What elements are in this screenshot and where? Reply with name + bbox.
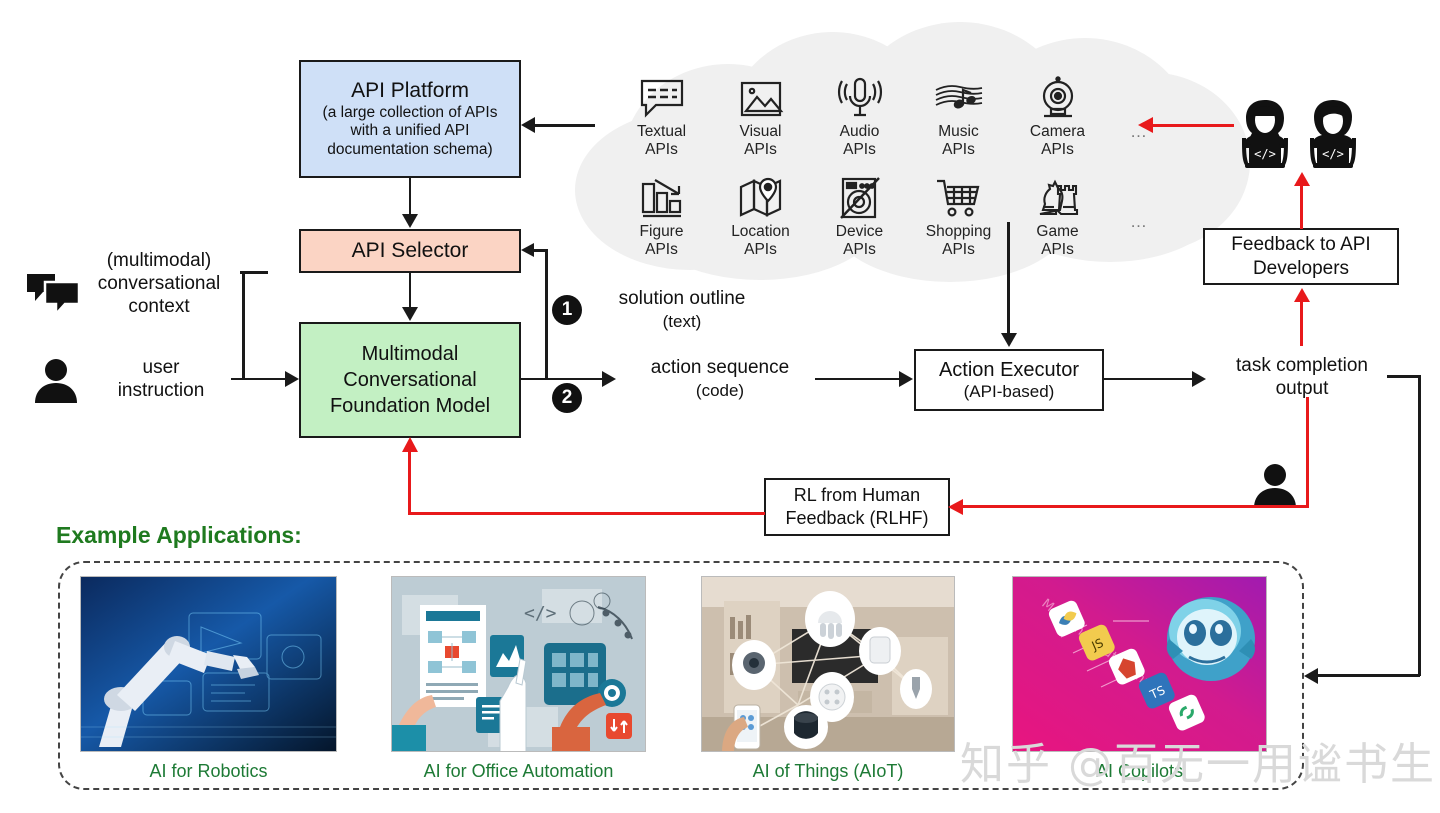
arrowhead-action-seq-to-executor — [899, 371, 913, 387]
red-arrowhead-devs-to-cloud — [1138, 117, 1153, 133]
developer-female-icon: </> — [1234, 98, 1296, 175]
chat-bubbles-icon — [25, 272, 81, 317]
red-arrowhead-rlhf-to-model — [402, 437, 418, 452]
foundation-model-title: MultimodalConversationalFoundation Model — [330, 341, 490, 419]
shopping-cart-icon — [909, 166, 1008, 220]
connector-selector-to-model — [409, 273, 412, 309]
robotics-thumbnail — [80, 576, 337, 752]
action-sequence-label: action sequence — [630, 357, 810, 380]
example-applications-heading: Example Applications: — [56, 522, 302, 549]
connector-model-to-action-seq — [545, 378, 607, 381]
user-person-icon — [33, 357, 79, 408]
connector-model-out-horizontal — [521, 378, 547, 381]
bar-chart-icon — [612, 166, 711, 220]
red-connector-rlhf-horizontal — [408, 512, 765, 515]
application-caption: AI of Things (AIoT) — [701, 761, 955, 782]
api-category-item[interactable]: ShoppingAPIs — [909, 166, 1008, 259]
api-category-item[interactable]: MusicAPIs — [909, 66, 1008, 159]
arrowhead-output-to-apps — [1304, 668, 1318, 684]
rlhf-title: RL from HumanFeedback (RLHF) — [785, 484, 928, 530]
api-category-label: VisualAPIs — [711, 123, 810, 159]
application-caption: AI for Office Automation — [391, 761, 646, 782]
red-connector-devs-to-cloud — [1152, 124, 1234, 127]
aiot-thumbnail — [701, 576, 955, 752]
feedback-to-developers-box[interactable]: Feedback to APIDevelopers — [1203, 228, 1399, 285]
arrowhead-inputs-to-model — [285, 371, 299, 387]
solution-outline-sub-label: (text) — [592, 312, 772, 332]
red-arrowhead-output-to-feedback — [1294, 288, 1310, 302]
red-connector-feedback-to-devs — [1300, 183, 1303, 229]
connector-output-vertical — [1418, 375, 1421, 676]
api-category-label: LocationAPIs — [711, 223, 810, 259]
connector-context-horizontal — [240, 271, 268, 274]
api-category-label: ShoppingAPIs — [909, 223, 1008, 259]
api-category-item[interactable]: GameAPIs — [1008, 166, 1107, 259]
arrowhead-platform-to-selector — [402, 214, 418, 228]
copilots-thumbnail: More than autocomplete JS — [1012, 576, 1267, 752]
svg-text:</>: </> — [1322, 147, 1344, 161]
connector-cloud-to-platform — [533, 124, 595, 127]
red-connector-human-to-rlhf — [962, 505, 1309, 508]
feedback-title: Feedback to APIDevelopers — [1231, 233, 1370, 281]
connector-loop-vertical — [545, 249, 548, 380]
user-instruction-label: userinstruction — [86, 357, 236, 403]
api-platform-subtitle: (a large collection of APIswith a unifie… — [317, 104, 504, 160]
api-category-item[interactable]: TextualAPIs — [612, 66, 711, 159]
red-connector-output-to-feedback — [1300, 300, 1303, 346]
arrowhead-loop-to-selector — [521, 243, 534, 257]
image-picture-icon — [711, 66, 810, 120]
api-category-item[interactable]: LocationAPIs — [711, 166, 810, 259]
action-executor-box[interactable]: Action Executor (API-based) — [914, 349, 1104, 411]
connector-loop-to-selector — [533, 249, 547, 252]
diagram-canvas: TextualAPIsVisualAPIsAudioAPIsMusicAPIsC… — [0, 0, 1440, 813]
rlhf-box[interactable]: RL from HumanFeedback (RLHF) — [764, 478, 950, 536]
red-connector-rlhf-vertical — [408, 452, 411, 514]
api-selector-title: API Selector — [352, 239, 469, 263]
api-category-label: AudioAPIs — [810, 123, 909, 159]
solution-outline-label: solution outline — [592, 288, 772, 311]
action-executor-subtitle: (API-based) — [964, 382, 1055, 401]
marker-one: 1 — [552, 295, 582, 325]
api-selector-box[interactable]: API Selector — [299, 229, 521, 273]
api-category-item[interactable]: DeviceAPIs — [810, 166, 909, 259]
task-completion-label: task completionoutput — [1212, 355, 1392, 401]
cloud-ellipsis-bottom: … — [1130, 212, 1149, 232]
red-arrowhead-feedback-to-devs — [1294, 172, 1310, 186]
api-category-label: FigureAPIs — [612, 223, 711, 259]
application-card-office[interactable]: </> AI for Office Automation — [391, 576, 646, 782]
conversational-context-label: (multimodal)conversationalcontext — [78, 250, 240, 318]
red-arrowhead-human-to-rlhf — [948, 499, 963, 515]
application-caption: AI for Robotics — [80, 761, 337, 782]
developer-male-icon: </> — [1302, 98, 1364, 175]
action-executor-title: Action Executor — [939, 359, 1079, 382]
api-category-label: CameraAPIs — [1008, 123, 1107, 159]
api-category-item[interactable]: AudioAPIs — [810, 66, 909, 159]
microphone-icon — [810, 66, 909, 120]
svg-text:</>: </> — [1254, 147, 1276, 161]
arrowhead-executor-to-output — [1192, 371, 1206, 387]
api-platform-box[interactable]: API Platform (a large collection of APIs… — [299, 60, 521, 178]
api-category-item[interactable]: FigureAPIs — [612, 166, 711, 259]
api-category-item[interactable]: VisualAPIs — [711, 66, 810, 159]
arrowhead-cloud-to-executor — [1001, 333, 1017, 347]
connector-output-top — [1387, 375, 1421, 378]
music-notes-icon — [909, 66, 1008, 120]
washing-machine-icon — [810, 166, 909, 220]
application-card-aiot[interactable]: AI of Things (AIoT) — [701, 576, 955, 782]
webcam-icon — [1008, 66, 1107, 120]
chess-pieces-icon — [1008, 166, 1107, 220]
api-platform-title: API Platform — [351, 79, 469, 103]
api-category-label: TextualAPIs — [612, 123, 711, 159]
red-connector-human-vertical — [1306, 397, 1309, 507]
arrowhead-cloud-to-platform — [521, 117, 535, 133]
api-category-label: MusicAPIs — [909, 123, 1008, 159]
office-automation-thumbnail: </> — [391, 576, 646, 752]
arrowhead-selector-to-model — [402, 307, 418, 321]
connector-context-vertical — [242, 272, 245, 379]
foundation-model-box[interactable]: MultimodalConversationalFoundation Model — [299, 322, 521, 438]
map-pin-icon — [711, 166, 810, 220]
connector-platform-to-selector — [409, 178, 412, 216]
application-card-robotics[interactable]: AI for Robotics — [80, 576, 337, 782]
action-sequence-sub-label: (code) — [630, 381, 810, 401]
connector-user-to-model — [231, 378, 289, 381]
connector-cloud-to-executor — [1007, 222, 1010, 335]
connector-output-to-apps — [1318, 674, 1420, 677]
connector-executor-to-output — [1104, 378, 1196, 381]
api-category-label: GameAPIs — [1008, 223, 1107, 259]
arrowhead-model-to-action-seq — [602, 371, 616, 387]
text-bubble-icon — [612, 66, 711, 120]
api-category-item[interactable]: CameraAPIs — [1008, 66, 1107, 159]
watermark-text: 知乎 @百无一用谧书生 — [960, 728, 1436, 792]
svg-text:</>: </> — [524, 603, 557, 624]
api-category-label: DeviceAPIs — [810, 223, 909, 259]
marker-two: 2 — [552, 383, 582, 413]
connector-action-seq-to-executor — [815, 378, 903, 381]
